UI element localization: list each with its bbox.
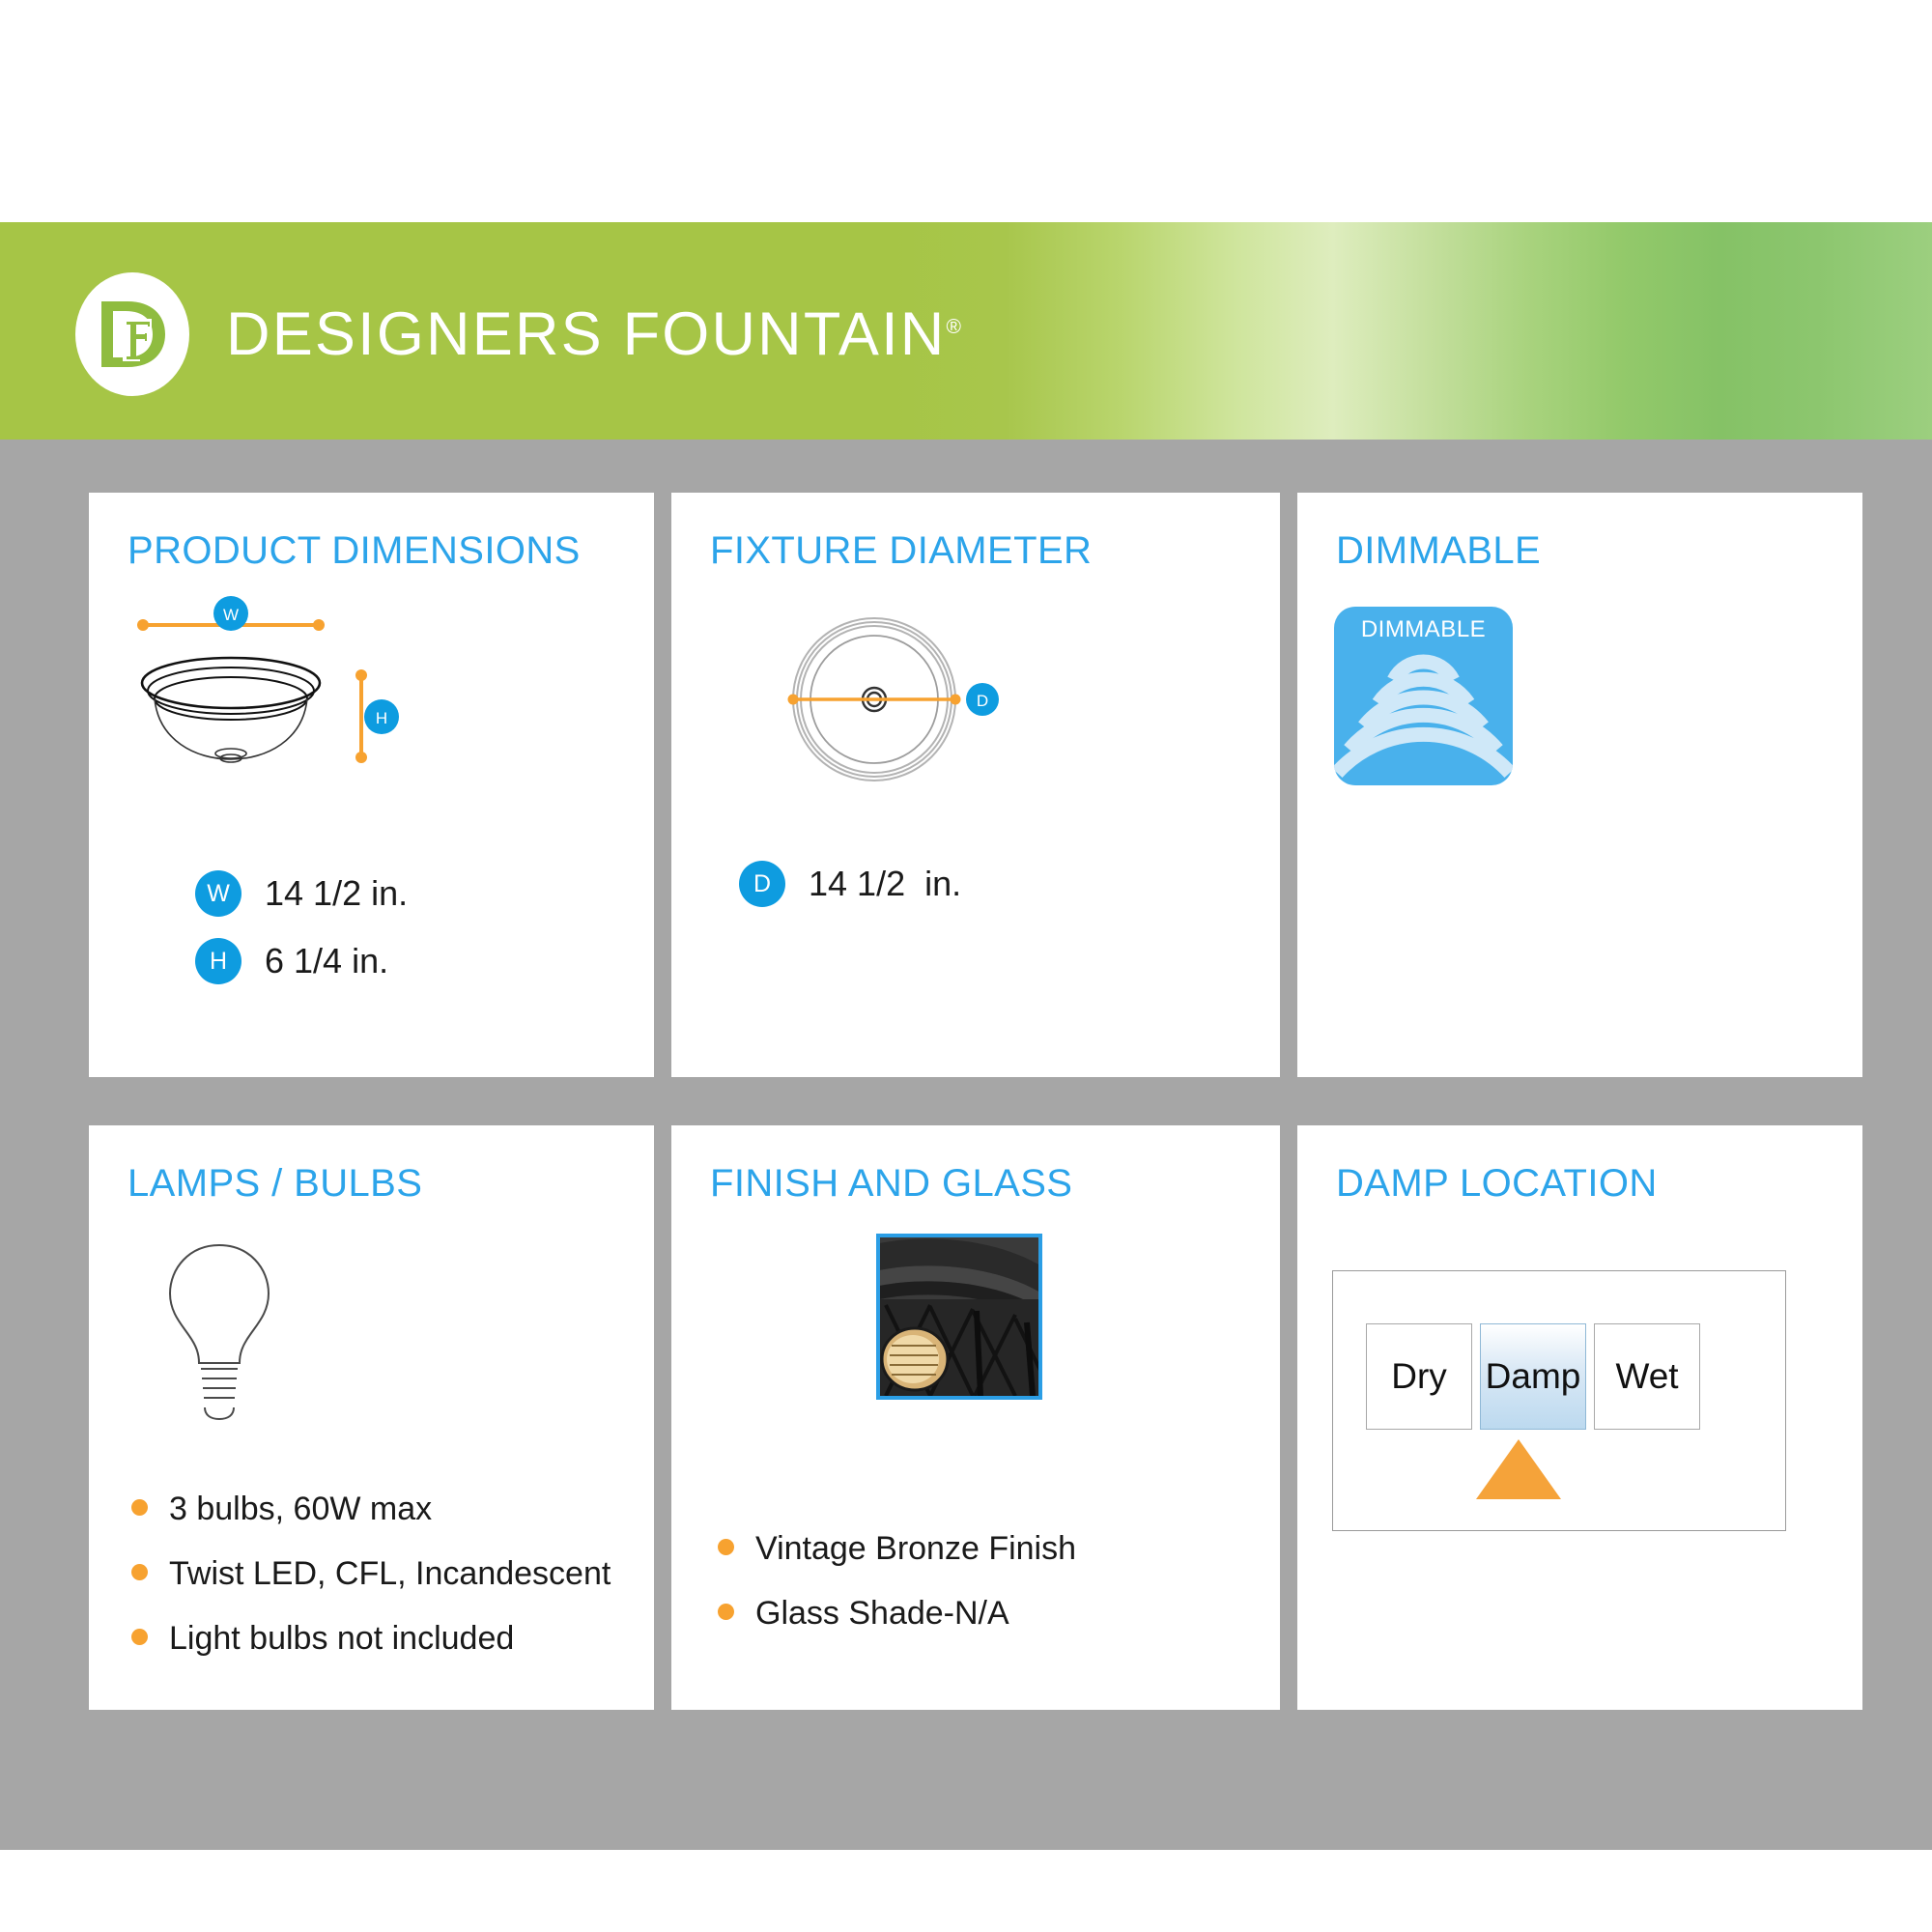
card-title-lamps-bulbs: LAMPS / BULBS <box>128 1162 615 1206</box>
diameter-value: 14 1/2 in. <box>809 864 961 904</box>
bullet-dot-icon <box>131 1499 148 1516</box>
fixture-diameter-value-row: D 14 1/2 in. <box>739 861 961 907</box>
location-rating-panel: Dry Damp Wet <box>1332 1270 1786 1531</box>
svg-text:H: H <box>376 709 387 727</box>
height-badge-icon: H <box>195 938 241 984</box>
dimension-row-height: H 6 1/4 in. <box>195 938 408 984</box>
registered-trademark-icon: ® <box>947 316 961 338</box>
card-finish-and-glass: FINISH AND GLASS <box>671 1125 1280 1710</box>
finish-bullet-list: Vintage Bronze Finish Glass Shade-N/A <box>718 1530 1076 1633</box>
location-option-dry-label: Dry <box>1391 1356 1447 1397</box>
height-value: 6 1/4 in. <box>265 941 388 981</box>
width-value: 14 1/2 in. <box>265 873 408 914</box>
finish-swatch-photo <box>876 1234 1042 1400</box>
lamps-bulbs-bullet-list: 3 bulbs, 60W max Twist LED, CFL, Incande… <box>131 1491 611 1658</box>
location-option-dry[interactable]: Dry <box>1366 1323 1472 1430</box>
svg-text:D: D <box>977 692 988 710</box>
bullet-dot-icon <box>131 1629 148 1645</box>
card-title-damp-location: DAMP LOCATION <box>1336 1162 1824 1206</box>
bullet-dot-icon <box>718 1604 734 1620</box>
list-item: Twist LED, CFL, Incandescent <box>131 1555 611 1593</box>
list-item: 3 bulbs, 60W max <box>131 1491 611 1528</box>
designers-fountain-logo-icon <box>75 272 189 396</box>
svg-text:W: W <box>223 606 239 624</box>
card-product-dimensions: PRODUCT DIMENSIONS W <box>89 493 654 1077</box>
lamps-bullet-text: 3 bulbs, 60W max <box>169 1491 432 1528</box>
card-title-finish-and-glass: FINISH AND GLASS <box>710 1162 1241 1206</box>
location-option-wet[interactable]: Wet <box>1594 1323 1700 1430</box>
finish-bullet-text: Vintage Bronze Finish <box>755 1530 1076 1568</box>
bullet-dot-icon <box>131 1564 148 1580</box>
location-option-damp[interactable]: Damp <box>1480 1323 1586 1430</box>
list-item: Light bulbs not included <box>131 1620 611 1658</box>
card-fixture-diameter: FIXTURE DIAMETER D D 14 1/2 in. <box>671 493 1280 1077</box>
spec-card-grid: PRODUCT DIMENSIONS W <box>89 493 1843 1710</box>
list-item: Vintage Bronze Finish <box>718 1530 1076 1568</box>
card-damp-location: DAMP LOCATION Dry Damp Wet <box>1297 1125 1862 1710</box>
width-badge-icon: W <box>195 870 241 917</box>
light-bulb-icon <box>147 1232 292 1435</box>
bullet-dot-icon <box>718 1539 734 1555</box>
brand-wordmark: DESIGNERS FOUNTAIN® <box>226 304 961 365</box>
fixture-diameter-diagram: D <box>756 593 1075 806</box>
card-title-dimmable: DIMMABLE <box>1336 529 1824 573</box>
location-option-wet-label: Wet <box>1615 1356 1678 1397</box>
card-title-fixture-diameter: FIXTURE DIAMETER <box>710 529 1241 573</box>
brand-name-text: DESIGNERS FOUNTAIN <box>226 300 947 368</box>
selected-location-arrow-icon <box>1476 1439 1561 1499</box>
product-dimension-values: W 14 1/2 in. H 6 1/4 in. <box>195 870 408 984</box>
dimmable-icon: DIMMABLE <box>1334 607 1513 785</box>
location-option-damp-label: Damp <box>1486 1356 1581 1397</box>
location-rating-options: Dry Damp Wet <box>1366 1323 1700 1430</box>
card-dimmable: DIMMABLE DIMMABLE <box>1297 493 1862 1077</box>
brand-logo-row: DESIGNERS FOUNTAIN® <box>75 272 961 396</box>
card-lamps-bulbs: LAMPS / BULBS 3 bulbs, 60W max Twist LED… <box>89 1125 654 1710</box>
dimension-row-width: W 14 1/2 in. <box>195 870 408 917</box>
lamps-bullet-text: Twist LED, CFL, Incandescent <box>169 1555 611 1593</box>
card-title-product-dimensions: PRODUCT DIMENSIONS <box>128 529 615 573</box>
list-item: Glass Shade-N/A <box>718 1595 1076 1633</box>
product-dimensions-diagram: W H <box>99 585 417 798</box>
finish-bullet-text: Glass Shade-N/A <box>755 1595 1009 1633</box>
lamps-bullet-text: Light bulbs not included <box>169 1620 514 1658</box>
diameter-badge-icon: D <box>739 861 785 907</box>
